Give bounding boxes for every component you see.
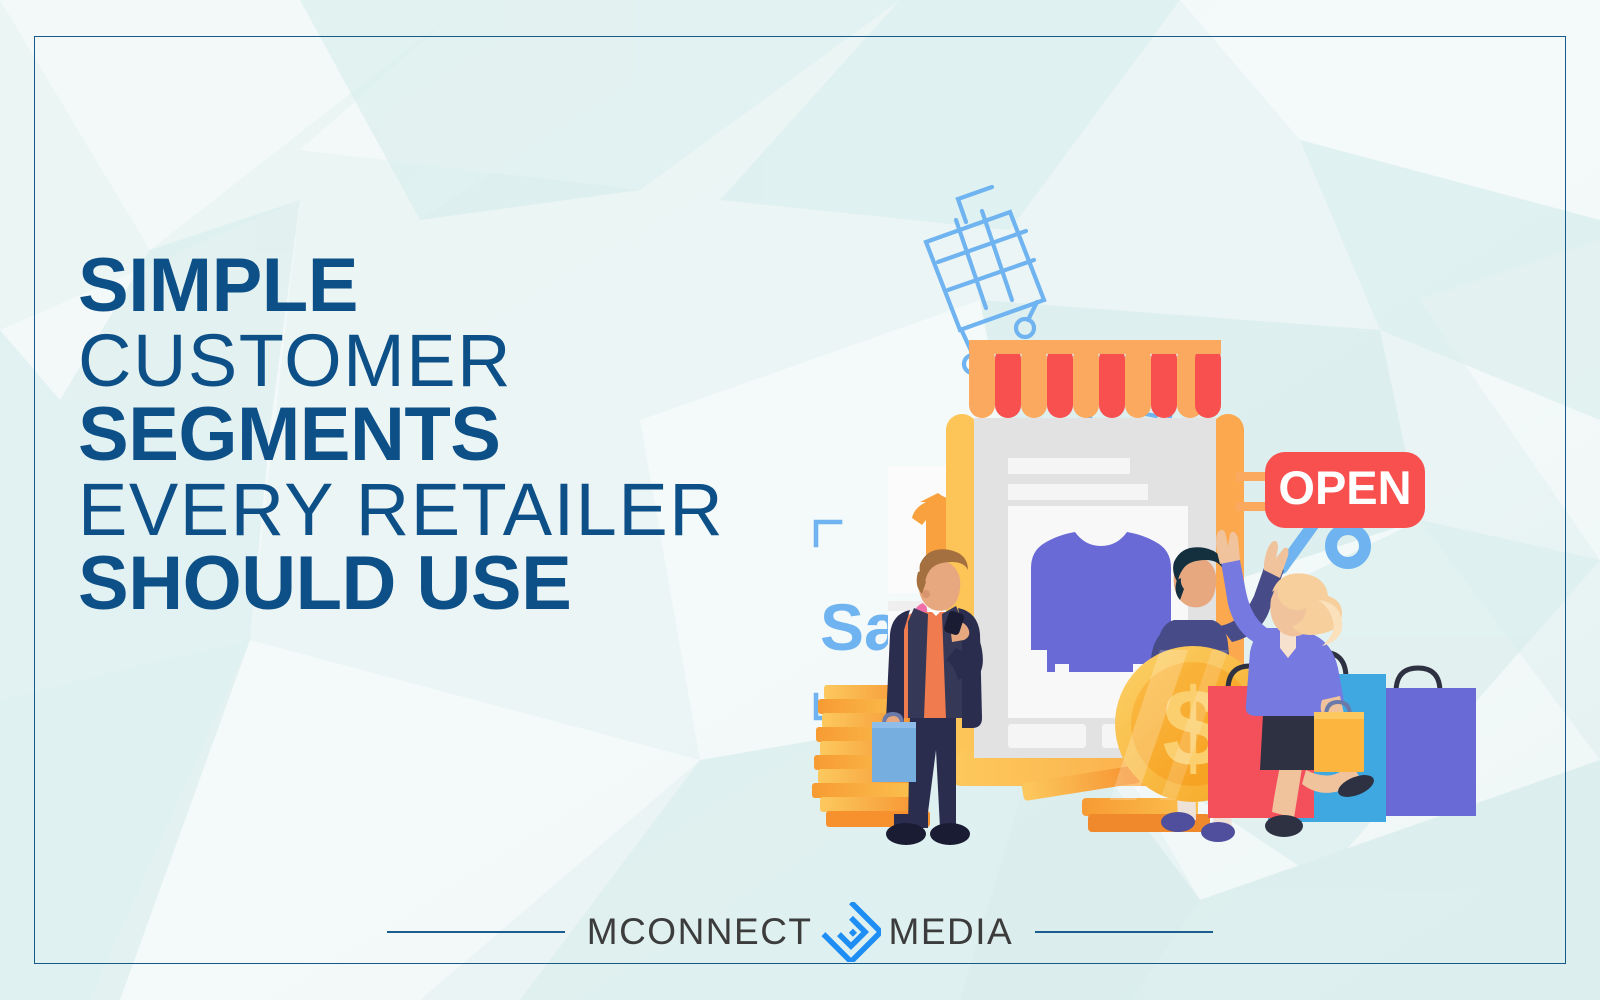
- open-sign: OPEN: [1236, 452, 1425, 528]
- headline-line-4: EVERY RETAILER: [78, 473, 724, 547]
- headline-line-3: SEGMENTS: [78, 397, 724, 473]
- shop-awning: [969, 340, 1221, 418]
- footer-rule-right: [1035, 931, 1213, 933]
- headline-line-1: SIMPLE: [78, 248, 724, 324]
- open-sign-label: OPEN: [1278, 461, 1411, 514]
- brand-name-left: MCONNECT: [587, 911, 813, 953]
- footer-rule-left: [387, 931, 565, 933]
- footer-logo-bar: MCONNECT MEDIA: [0, 902, 1600, 962]
- mconnect-diamond-logo-icon: [821, 902, 881, 962]
- brand-logo[interactable]: MCONNECT MEDIA: [565, 902, 1035, 962]
- sweater-product-icon: [1031, 532, 1171, 672]
- page-title: SIMPLE CUSTOMER SEGMENTS EVERY RETAILER …: [78, 248, 724, 622]
- small-orange-bag: [1314, 702, 1364, 772]
- blue-shopping-bag: [872, 714, 916, 782]
- poster-canvas: SIMPLE CUSTOMER SEGMENTS EVERY RETAILER …: [0, 0, 1600, 1000]
- headline-line-2: CUSTOMER: [78, 324, 724, 398]
- retail-shopping-illustration: Sale: [760, 150, 1540, 850]
- headline-line-5: SHOULD USE: [78, 546, 724, 622]
- brand-name-right: MEDIA: [889, 911, 1014, 953]
